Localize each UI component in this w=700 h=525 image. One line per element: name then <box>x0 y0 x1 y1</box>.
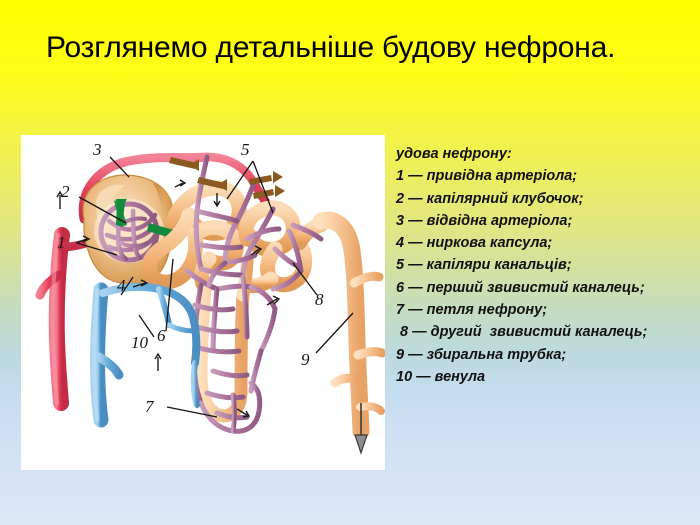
diagram-label-3: 3 <box>92 140 102 159</box>
nephron-legend: удова нефрону: 1 — привідна артеріола; 2… <box>396 143 696 388</box>
diagram-label-1: 1 <box>57 233 66 252</box>
legend-item-1: 1 — привідна артеріола; <box>396 165 696 187</box>
diagram-label-6: 6 <box>157 326 166 345</box>
diagram-label-8: 8 <box>315 290 324 309</box>
nephron-anatomy-illustration: 1 2 3 4 5 6 7 8 9 10 <box>21 135 385 470</box>
diagram-label-2: 2 <box>61 182 70 201</box>
legend-item-6: 6 — перший звивистий каналець; <box>396 277 696 299</box>
legend-item-4: 4 — ниркова капсула; <box>396 232 696 254</box>
nephron-diagram-panel: 1 2 3 4 5 6 7 8 9 10 <box>21 135 385 470</box>
diagram-label-4: 4 <box>117 276 126 295</box>
legend-item-9: 9 — збиральна трубка; <box>396 344 696 366</box>
diagram-label-5: 5 <box>241 140 250 159</box>
legend-item-3: 3 — відвідна артеріола; <box>396 210 696 232</box>
page-title: Розглянемо детальніше будову нефрона. <box>46 28 646 68</box>
legend-item-2: 2 — капілярний клубочок; <box>396 188 696 210</box>
legend-item-10: 10 — венула <box>396 366 696 388</box>
legend-item-8: 8 — другий звивистий каналець; <box>396 321 696 343</box>
diagram-label-10: 10 <box>131 333 149 352</box>
legend-heading: удова нефрону: <box>396 143 696 165</box>
diagram-label-9: 9 <box>301 350 310 369</box>
legend-item-5: 5 — капіляри канальців; <box>396 254 696 276</box>
legend-item-7: 7 — петля нефрону; <box>396 299 696 321</box>
slide-canvas: Розглянемо детальніше будову нефрона. <box>0 0 700 525</box>
